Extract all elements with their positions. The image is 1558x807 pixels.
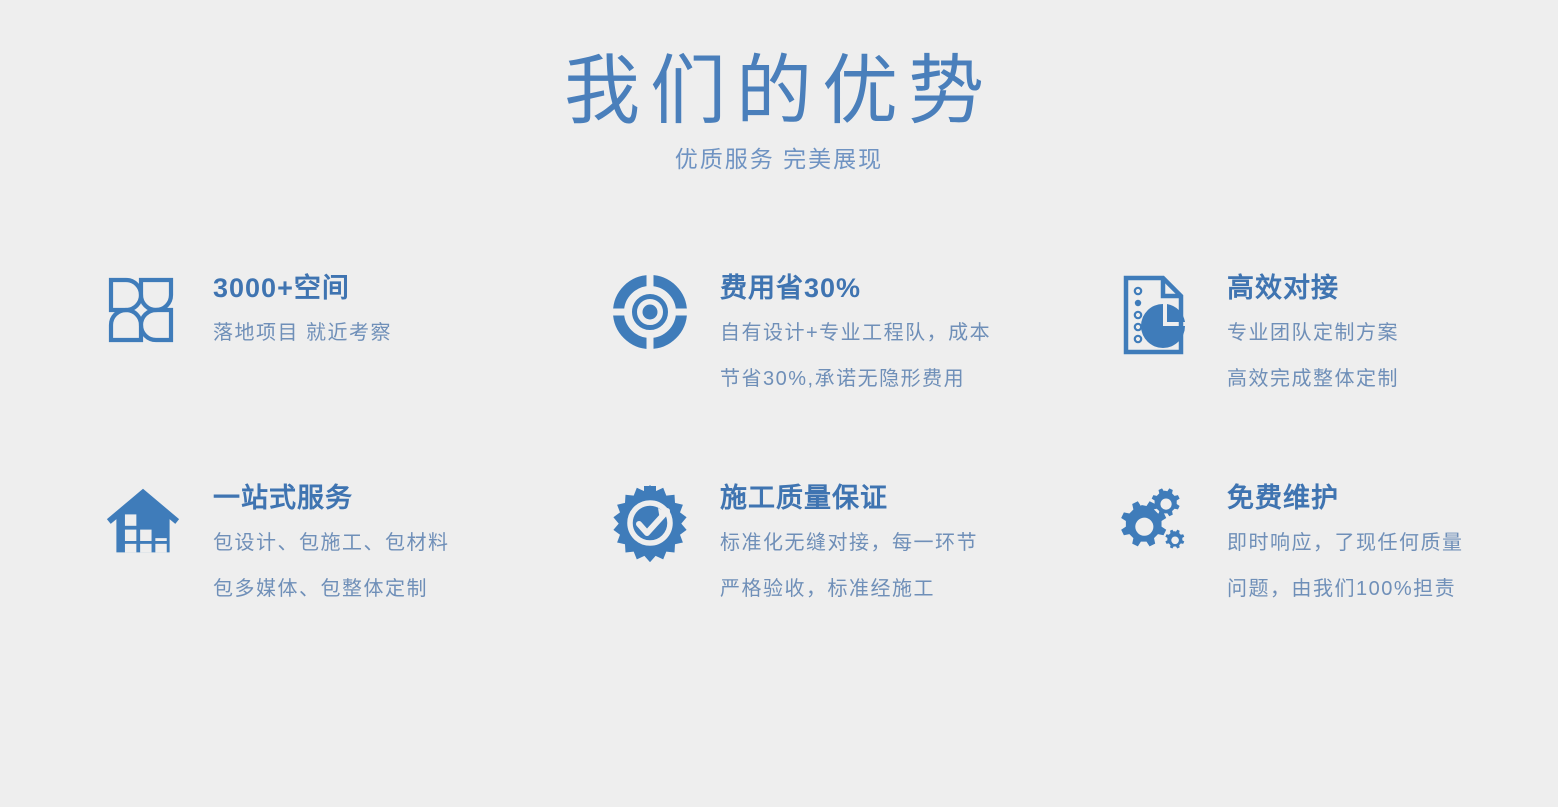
feature-title: 3000+空间 <box>213 272 392 306</box>
feature-body: 3000+空间 落地项目 就近考察 <box>181 272 392 344</box>
feature-title: 免费维护 <box>1227 482 1464 516</box>
feature-card-cost-saving[interactable]: 费用省30% 自有设计+专业工程队，成本 节省30%,承诺无隐形费用 <box>612 272 1119 482</box>
feature-line: 标准化无缝对接，每一环节 <box>720 532 978 554</box>
feature-line: 自有设计+专业工程队，成本 <box>720 322 991 344</box>
feature-line: 专业团队定制方案 <box>1227 322 1399 344</box>
feature-line: 高效完成整体定制 <box>1227 368 1399 390</box>
gears-icon <box>1119 482 1195 564</box>
feature-line: 即时响应，了现任何质量 <box>1227 532 1464 554</box>
feature-card-space[interactable]: 3000+空间 落地项目 就近考察 <box>105 272 612 482</box>
features-grid: 3000+空间 落地项目 就近考察 <box>105 272 1505 682</box>
feature-body: 费用省30% 自有设计+专业工程队，成本 节省30%,承诺无隐形费用 <box>688 272 991 390</box>
features-row-bottom: 一站式服务 包设计、包施工、包材料 包多媒体、包整体定制 <box>105 482 1505 682</box>
feature-line: 严格验收，标准经施工 <box>720 578 978 600</box>
feature-body: 施工质量保证 标准化无缝对接，每一环节 严格验收，标准经施工 <box>688 482 978 600</box>
target-bullseye-icon <box>612 272 688 354</box>
feature-card-quality-guarantee[interactable]: 施工质量保证 标准化无缝对接，每一环节 严格验收，标准经施工 <box>612 482 1119 682</box>
document-pie-chart-icon <box>1119 272 1195 354</box>
feature-body: 一站式服务 包设计、包施工、包材料 包多媒体、包整体定制 <box>181 482 450 600</box>
feature-title: 一站式服务 <box>213 482 450 516</box>
feature-card-one-stop-service[interactable]: 一站式服务 包设计、包施工、包材料 包多媒体、包整体定制 <box>105 482 612 682</box>
feature-line: 包多媒体、包整体定制 <box>213 578 450 600</box>
features-row-top: 3000+空间 落地项目 就近考察 <box>105 272 1505 482</box>
feature-card-efficient-docking[interactable]: 高效对接 专业团队定制方案 高效完成整体定制 <box>1119 272 1558 482</box>
page-title: 我们的优势 <box>0 0 1558 132</box>
badge-check-icon <box>612 482 688 564</box>
feature-title: 施工质量保证 <box>720 482 978 516</box>
feature-body: 高效对接 专业团队定制方案 高效完成整体定制 <box>1195 272 1399 390</box>
feature-card-free-maintenance[interactable]: 免费维护 即时响应，了现任何质量 问题，由我们100%担责 <box>1119 482 1558 682</box>
feature-line: 节省30%,承诺无隐形费用 <box>720 368 991 390</box>
page-header: 我们的优势 优质服务 完美展现 <box>0 0 1558 173</box>
feature-body: 免费维护 即时响应，了现任何质量 问题，由我们100%担责 <box>1195 482 1464 600</box>
feature-title: 高效对接 <box>1227 272 1399 306</box>
feature-line: 落地项目 就近考察 <box>213 322 392 344</box>
four-petals-icon <box>105 272 181 354</box>
feature-title: 费用省30% <box>720 272 991 306</box>
house-icon <box>105 482 181 564</box>
feature-line: 包设计、包施工、包材料 <box>213 532 450 554</box>
feature-line: 问题，由我们100%担责 <box>1227 578 1464 600</box>
page-subtitle: 优质服务 完美展现 <box>0 132 1558 174</box>
